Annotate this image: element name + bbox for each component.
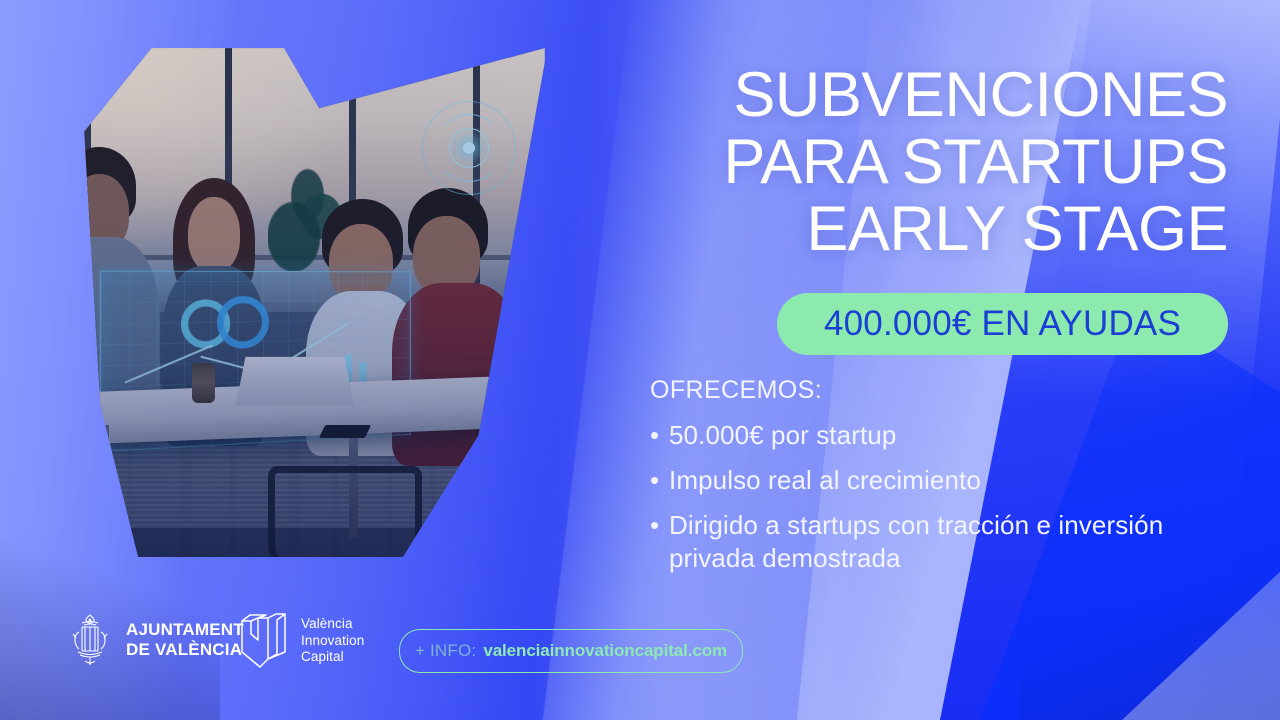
vic-line-3: Capital (301, 649, 364, 666)
vic-logo-text: València Innovation Capital (301, 616, 364, 666)
list-item: • 50.000€ por startup (650, 419, 1250, 452)
headline-line-2: PARA STARTUPS (588, 129, 1228, 196)
page-title: SUBVENCIONES PARA STARTUPS EARLY STAGE (588, 62, 1228, 263)
ajuntament-logo: AJUNTAMENT DE VALÈNCIA (66, 612, 244, 668)
amount-badge-label: 400.000€ EN AYUDAS (824, 304, 1181, 344)
bullet-icon: • (650, 419, 660, 452)
ajuntament-line-2: DE VALÈNCIA (126, 640, 244, 660)
ajuntament-logo-text: AJUNTAMENT DE VALÈNCIA (126, 620, 244, 660)
offers-block: OFRECEMOS: • 50.000€ por startup • Impul… (650, 376, 1250, 587)
promo-poster: SUBVENCIONES PARA STARTUPS EARLY STAGE 4… (0, 0, 1280, 720)
valencia-crest-icon (66, 612, 114, 668)
amount-badge: 400.000€ EN AYUDAS (777, 293, 1228, 355)
footer: AJUNTAMENT DE VALÈNCIA (0, 600, 1280, 720)
more-info-url[interactable]: valenciainnovationcapital.com (483, 641, 727, 661)
vic-line-1: València (301, 616, 364, 633)
list-item-label: Impulso real al crecimiento (669, 464, 981, 497)
vic-v-mark-icon (238, 612, 290, 670)
valencia-innovation-capital-logo: València Innovation Capital (238, 612, 364, 670)
list-item-label: 50.000€ por startup (669, 419, 896, 452)
bullet-icon: • (650, 509, 660, 542)
list-item-label: Dirigido a startups con tracción e inver… (669, 509, 1250, 575)
headline-line-1: SUBVENCIONES (588, 62, 1228, 129)
headline-line-3: EARLY STAGE (588, 196, 1228, 263)
list-item: • Impulso real al crecimiento (650, 464, 1250, 497)
more-info-prefix: + INFO: (415, 641, 476, 661)
bullet-icon: • (650, 464, 660, 497)
list-item: • Dirigido a startups con tracción e inv… (650, 509, 1250, 575)
offers-title: OFRECEMOS: (650, 376, 1250, 405)
more-info-link[interactable]: + INFO: valenciainnovationcapital.com (399, 629, 743, 673)
vic-line-2: Innovation (301, 633, 364, 650)
ajuntament-line-1: AJUNTAMENT (126, 620, 244, 640)
